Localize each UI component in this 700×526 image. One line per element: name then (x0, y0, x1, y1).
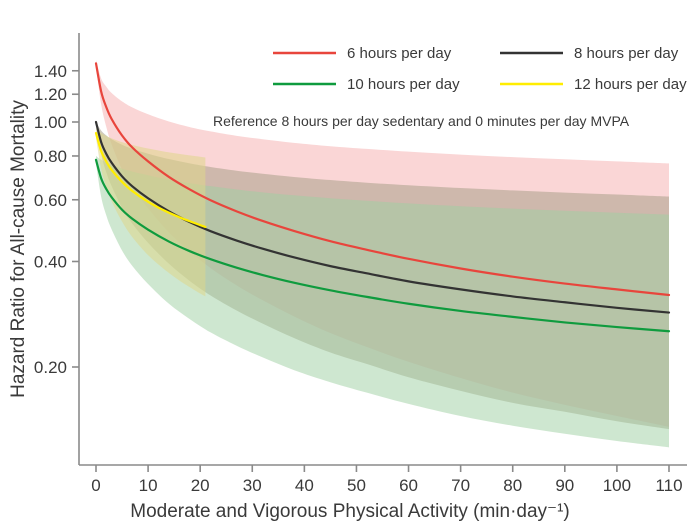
chart-figure: 1.401.201.000.800.600.400.20010203040506… (0, 0, 700, 526)
legend-label-6-hours-per-day: 6 hours per day (347, 45, 452, 62)
x-axis-title: Moderate and Vigorous Physical Activity … (130, 501, 569, 522)
x-tick-label: 50 (347, 476, 366, 495)
x-tick-label: 100 (603, 476, 631, 495)
x-tick-label: 80 (503, 476, 522, 495)
y-axis-title: Hazard Ratio for All-cause Mortality (8, 100, 29, 398)
x-tick-label: 70 (451, 476, 470, 495)
y-tick-label: 1.00 (34, 113, 67, 132)
x-tick-label: 0 (91, 476, 100, 495)
legend-label-12-hours-per-day: 12 hours per day (574, 76, 687, 93)
x-tick-label: 90 (555, 476, 574, 495)
y-tick-label: 0.60 (34, 191, 67, 210)
x-tick-label: 40 (295, 476, 314, 495)
hazard-ratio-chart: 1.401.201.000.800.600.400.20010203040506… (0, 0, 700, 526)
y-tick-label: 1.20 (34, 85, 67, 104)
legend: 6 hours per day8 hours per day10 hours p… (273, 45, 687, 93)
y-tick-label: 0.80 (34, 147, 67, 166)
x-tick-label: 20 (191, 476, 210, 495)
legend-label-10-hours-per-day: 10 hours per day (347, 76, 460, 93)
y-tick-label: 1.40 (34, 62, 67, 81)
x-tick-label: 110 (655, 476, 682, 495)
reference-annotation: Reference 8 hours per day sedentary and … (213, 113, 630, 129)
y-tick-label: 0.20 (34, 358, 67, 377)
x-tick-label: 30 (243, 476, 262, 495)
legend-label-8-hours-per-day: 8 hours per day (574, 45, 679, 62)
x-tick-label: 10 (139, 476, 158, 495)
x-tick-label: 60 (399, 476, 418, 495)
y-tick-label: 0.40 (34, 252, 67, 271)
